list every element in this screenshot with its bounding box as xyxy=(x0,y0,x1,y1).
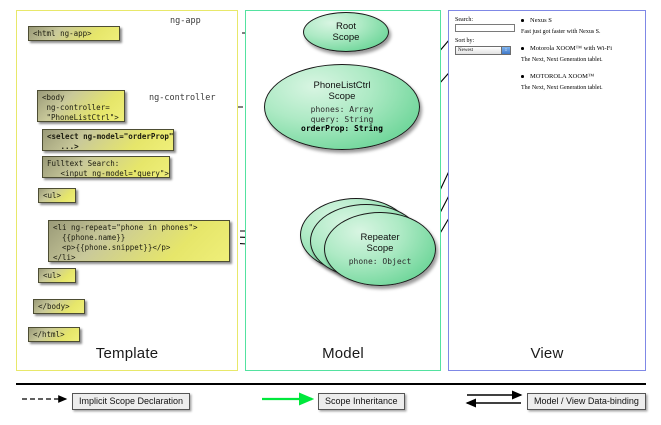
phone-snippet: The Next, Next Generation tablet. xyxy=(521,84,651,93)
edge-label-ng-app: ng-app xyxy=(170,16,201,26)
code-fulltext-search: Fulltext Search: <input ng-model="query"… xyxy=(42,156,170,178)
scope-root-title-2: Scope xyxy=(333,32,360,43)
repeater-scope-front: Repeater Scope phone: Object xyxy=(324,212,436,286)
code-body-open: <body ng-controller= "PhoneListCtrl"> xyxy=(37,90,125,122)
legend-model-view-data-binding: Model / View Data-binding xyxy=(527,393,646,410)
repeater-scope-stack: Repeater Scope phone: Object xyxy=(300,198,440,294)
scope-prop-phone: phone: Object xyxy=(349,257,412,267)
sort-by-select[interactable]: Newest ↕ xyxy=(455,46,511,55)
column-label-template: Template xyxy=(16,345,238,362)
scope-phonelistctrl: PhoneListCtrl Scope phones: Array query:… xyxy=(264,64,420,150)
scope-root-title-1: Root xyxy=(336,21,356,32)
phone-snippet: Fast just got faster with Nexus S. xyxy=(521,28,651,37)
scope-ctrl-title-1: PhoneListCtrl xyxy=(313,80,370,91)
scope-ctrl-title-2: Scope xyxy=(329,91,356,102)
list-item: MOTOROLA XOOM™ The Next, Next Generation… xyxy=(521,72,651,93)
code-html-open: <html ng-app> xyxy=(28,26,120,41)
view-search-form: Search: Sort by: Newest ↕ xyxy=(455,16,517,55)
scope-repeater-title-1: Repeater xyxy=(360,232,399,243)
bullet-icon xyxy=(521,47,524,50)
list-item: Motorola XOOM™ with Wi-Fi The Next, Next… xyxy=(521,44,651,65)
legend-scope-inheritance: Scope Inheritance xyxy=(318,393,405,410)
scope-prop-phones: phones: Array xyxy=(301,105,383,115)
code-html-close: </html> xyxy=(28,327,80,342)
legend-divider xyxy=(16,383,646,385)
edge-label-ng-controller: ng-controller xyxy=(149,93,216,103)
scope-prop-orderprop: orderProp: String xyxy=(301,124,383,133)
legend-implicit-scope-declaration: Implicit Scope Declaration xyxy=(72,393,190,410)
diagram-canvas: <html ng-app> <body ng-controller= "Phon… xyxy=(0,0,661,425)
phone-name: MOTOROLA XOOM™ xyxy=(530,73,594,80)
scope-repeater-title-2: Scope xyxy=(367,243,394,254)
code-li-ng-repeat: <li ng-repeat="phone in phones"> {{phone… xyxy=(48,220,230,262)
phone-name: Motorola XOOM™ with Wi-Fi xyxy=(530,45,612,52)
phone-list: Nexus S Fast just got faster with Nexus … xyxy=(521,16,651,100)
search-input[interactable] xyxy=(455,24,515,32)
scope-prop-query: query: String xyxy=(301,115,383,125)
search-label: Search: xyxy=(455,16,517,24)
code-ul-open: <ul> xyxy=(38,188,76,203)
column-label-view: View xyxy=(448,345,646,362)
phone-name: Nexus S xyxy=(530,17,552,24)
list-item: Nexus S Fast just got faster with Nexus … xyxy=(521,16,651,37)
sort-by-label: Sort by: xyxy=(455,37,517,45)
code-ul-close: <ul> xyxy=(38,268,76,283)
column-label-model: Model xyxy=(245,345,441,362)
code-select: <select ng-model="orderProp" ...> xyxy=(42,129,174,151)
bullet-icon xyxy=(521,19,524,22)
scope-root: Root Scope xyxy=(303,12,389,52)
sort-by-selected-value: Newest xyxy=(458,48,473,53)
bullet-icon xyxy=(521,75,524,78)
code-body-close: </body> xyxy=(33,299,85,314)
phone-snippet: The Next, Next Generation tablet. xyxy=(521,56,651,65)
legend-double-arrow-icon xyxy=(467,395,521,403)
chevron-down-icon: ↕ xyxy=(501,47,510,54)
